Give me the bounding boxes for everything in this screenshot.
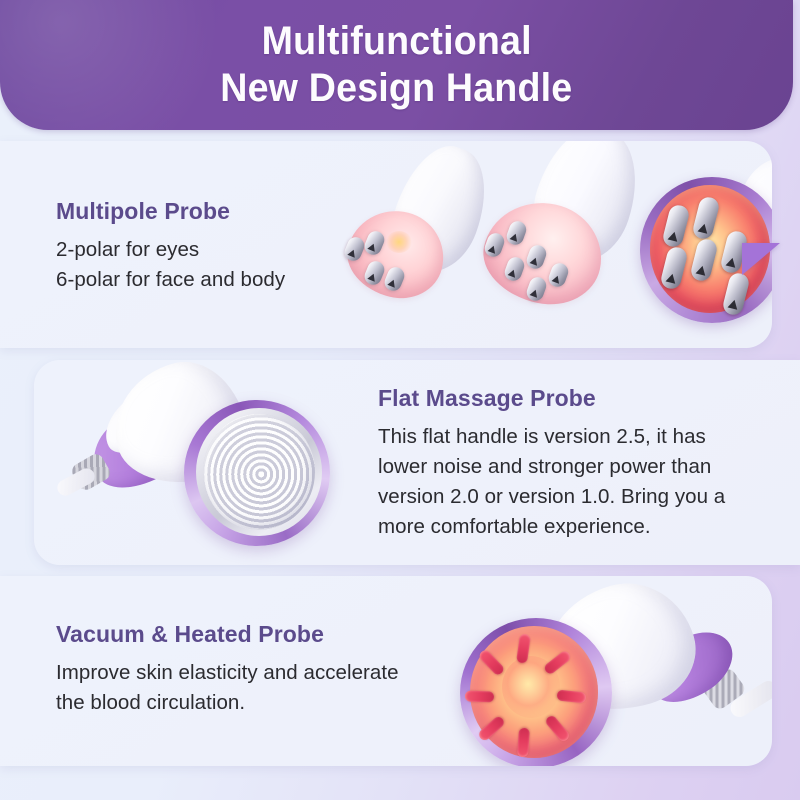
card-3-text-block: Vacuum & Heated Probe Improve skin elast… — [56, 619, 431, 718]
feature-card-flat-massage-probe: Flat Massage Probe This flat handle is v… — [34, 360, 800, 565]
two-pole-probe-icon — [340, 153, 490, 323]
card-1-text-block: Multipole Probe 2-polar for eyes 6-polar… — [56, 196, 285, 295]
purple-handle-accent — [742, 243, 780, 275]
card-1-title: Multipole Probe — [56, 196, 285, 226]
flat-massage-probe-illustration — [70, 362, 370, 562]
probe-flat-disc-face — [203, 414, 315, 530]
card-2-title: Flat Massage Probe — [378, 383, 750, 413]
card-1-body: 2-polar for eyes 6-polar for face and bo… — [56, 235, 285, 295]
header-title-line-2: New Design Handle — [220, 65, 572, 112]
card-3-title: Vacuum & Heated Probe — [56, 619, 431, 649]
card-3-body: Improve skin elasticity and accelerate t… — [56, 658, 431, 718]
vacuum-heated-probe-illustration — [460, 582, 772, 766]
probe-glow — [386, 231, 412, 253]
header-title-line-1: Multifunctional — [261, 18, 531, 65]
card-2-body: This flat handle is version 2.5, it has … — [378, 422, 750, 542]
card-2-text-block: Flat Massage Probe This flat handle is v… — [378, 383, 750, 542]
infographic-page: Multifunctional New Design Handle — [0, 0, 800, 800]
feature-card-vacuum-heated-probe: Vacuum & Heated Probe Improve skin elast… — [0, 576, 772, 766]
multipole-probe-illustration — [330, 141, 772, 348]
vacuum-slot — [517, 728, 530, 758]
feature-card-multipole-probe: Multipole Probe 2-polar for eyes 6-polar… — [0, 141, 772, 348]
vacuum-slot — [465, 690, 494, 702]
header-banner: Multifunctional New Design Handle — [0, 0, 793, 130]
